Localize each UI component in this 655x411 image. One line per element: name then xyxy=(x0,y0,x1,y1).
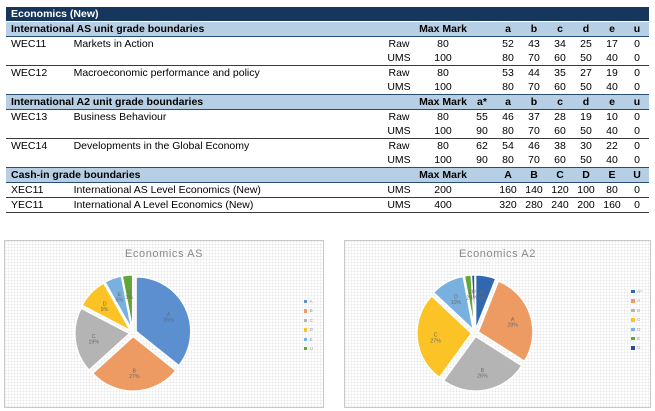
unit-subject: International AS Level Economics (New) xyxy=(74,183,381,198)
section-grade-header-E: E xyxy=(599,168,625,183)
row-value-e: 40 xyxy=(599,153,625,168)
section-grade-header-u: u xyxy=(625,95,649,110)
row-value-b: 70 xyxy=(521,153,547,168)
row-value-D: 100 xyxy=(573,183,599,198)
row-mark-type: UMS xyxy=(381,51,417,66)
row-value-d: 50 xyxy=(573,80,599,95)
chart-a2-pie: A*6%A28%B26%C27%D10%E2%U1% xyxy=(405,263,545,403)
unit-subject: Markets in Action xyxy=(74,37,381,52)
legend-label: E xyxy=(310,335,313,344)
chart-as-legend: ABCDEU xyxy=(304,297,313,353)
row-value-C: 240 xyxy=(547,198,573,213)
row-max-mark: 100 xyxy=(417,153,469,168)
section-max-mark-header: Max Mark xyxy=(417,168,469,183)
row-value-u: 0 xyxy=(625,153,649,168)
unit-subject xyxy=(74,153,381,168)
row-value-B: 140 xyxy=(521,183,547,198)
section-grade-header-B: B xyxy=(521,168,547,183)
row-value-c: 60 xyxy=(547,124,573,139)
legend-label: U xyxy=(310,344,313,353)
row-value-a: 54 xyxy=(495,139,521,154)
row-value-a: 46 xyxy=(495,110,521,125)
row-value-d: 27 xyxy=(573,66,599,81)
section-astar-header: a* xyxy=(469,95,495,110)
row-value-A: 160 xyxy=(495,183,521,198)
row-value-U: 0 xyxy=(625,183,649,198)
row-value-b: 44 xyxy=(521,66,547,81)
row-value-a: 80 xyxy=(495,124,521,139)
row-value-u: 0 xyxy=(625,110,649,125)
table-row: UMS10080706050400 xyxy=(6,51,649,66)
legend-item-E: E xyxy=(631,334,642,343)
row-mark-type: Raw xyxy=(381,110,417,125)
row-value-U: 0 xyxy=(625,198,649,213)
section-header-row: International AS unit grade boundariesMa… xyxy=(6,22,649,37)
legend-swatch-icon xyxy=(304,319,308,323)
row-value-e: 19 xyxy=(599,66,625,81)
row-mark-type: Raw xyxy=(381,66,417,81)
unit-code xyxy=(6,153,74,168)
legend-label: D xyxy=(310,325,313,334)
section-title: International AS unit grade boundaries xyxy=(6,22,381,37)
unit-subject xyxy=(74,124,381,139)
row-mark-type: Raw xyxy=(381,139,417,154)
row-max-mark: 400 xyxy=(417,198,469,213)
row-value-u: 0 xyxy=(625,66,649,81)
table-title-row: Economics (New) xyxy=(6,7,649,22)
unit-code xyxy=(6,124,74,139)
table-row: WEC13Business BehaviourRaw80554637281910… xyxy=(6,110,649,125)
row-value-b: 70 xyxy=(521,124,547,139)
unit-code: XEC11 xyxy=(6,183,74,198)
legend-label: E xyxy=(637,334,640,343)
legend-swatch-icon xyxy=(304,300,308,304)
row-mark-type: UMS xyxy=(381,153,417,168)
row-value-b: 37 xyxy=(521,110,547,125)
unit-code xyxy=(6,80,74,95)
table-row: UMS1009080706050400 xyxy=(6,124,649,139)
legend-item-B: B xyxy=(631,306,642,315)
row-max-mark: 100 xyxy=(417,51,469,66)
section-grade-header-b: b xyxy=(521,95,547,110)
table-row: WEC11Markets in ActionRaw8052433425170 xyxy=(6,37,649,52)
row-value-e: 10 xyxy=(599,110,625,125)
row-value-astar: 90 xyxy=(469,124,495,139)
section-grade-header-C: C xyxy=(547,168,573,183)
table-row: UMS1009080706050400 xyxy=(6,153,649,168)
row-value-c: 60 xyxy=(547,153,573,168)
legend-swatch-icon xyxy=(304,338,308,342)
section-type-spacer xyxy=(381,95,417,110)
row-value-u: 0 xyxy=(625,51,649,66)
section-max-mark-header: Max Mark xyxy=(417,95,469,110)
row-value-c: 60 xyxy=(547,51,573,66)
legend-swatch-icon xyxy=(631,346,635,350)
row-value-d: 19 xyxy=(573,110,599,125)
legend-label: A* xyxy=(637,287,642,296)
row-value-c: 38 xyxy=(547,139,573,154)
table-row: WEC14Developments in the Global EconomyR… xyxy=(6,139,649,154)
unit-subject xyxy=(74,80,381,95)
row-value-b: 70 xyxy=(521,80,547,95)
row-value-d: 50 xyxy=(573,124,599,139)
legend-item-B: B xyxy=(304,306,313,315)
table-row: YEC11International A Level Economics (Ne… xyxy=(6,198,649,213)
section-grade-header-b: b xyxy=(521,22,547,37)
section-max-mark-header: Max Mark xyxy=(417,22,469,37)
section-grade-header-d: d xyxy=(573,22,599,37)
row-value-b: 70 xyxy=(521,51,547,66)
row-value-astar: 55 xyxy=(469,110,495,125)
legend-item-U: U xyxy=(631,343,642,352)
unit-code xyxy=(6,51,74,66)
row-value-a: 80 xyxy=(495,80,521,95)
row-value-B: 280 xyxy=(521,198,547,213)
chart-as-pie: A35%B27%C19%D9%E5%U3% xyxy=(63,263,203,403)
section-grade-header-A: A xyxy=(495,168,521,183)
row-max-mark: 80 xyxy=(417,110,469,125)
unit-code: WEC11 xyxy=(6,37,74,52)
row-value-astar: 62 xyxy=(469,139,495,154)
section-astar-header xyxy=(469,22,495,37)
row-value-astar xyxy=(469,37,495,52)
legend-item-Astar: A* xyxy=(631,287,642,296)
chart-as-title: Economics AS xyxy=(5,248,323,260)
unit-subject: Macroeconomic performance and policy xyxy=(74,66,381,81)
row-value-a: 52 xyxy=(495,37,521,52)
unit-subject: Developments in the Global Economy xyxy=(74,139,381,154)
table-row: XEC11International AS Level Economics (N… xyxy=(6,183,649,198)
row-value-d: 30 xyxy=(573,139,599,154)
section-header-row: International A2 unit grade boundariesMa… xyxy=(6,95,649,110)
row-max-mark: 80 xyxy=(417,37,469,52)
row-max-mark: 100 xyxy=(417,124,469,139)
row-mark-type: UMS xyxy=(381,80,417,95)
table-title: Economics (New) xyxy=(6,7,649,22)
legend-item-D: D xyxy=(304,325,313,334)
row-value-astar: 90 xyxy=(469,153,495,168)
table-row: WEC12Macroeconomic performance and polic… xyxy=(6,66,649,81)
section-grade-header-c: c xyxy=(547,22,573,37)
legend-item-A: A xyxy=(631,296,642,305)
section-grade-header-d: d xyxy=(573,95,599,110)
section-astar-header xyxy=(469,168,495,183)
row-value-e: 40 xyxy=(599,124,625,139)
row-value-c: 60 xyxy=(547,80,573,95)
chart-economics-a2: Economics A2 A*6%A28%B26%C27%D10%E2%U1% … xyxy=(344,240,651,408)
legend-label: B xyxy=(637,306,640,315)
row-value-E: 160 xyxy=(599,198,625,213)
legend-swatch-icon xyxy=(631,290,635,294)
legend-label: A xyxy=(637,296,640,305)
section-grade-header-u: u xyxy=(625,22,649,37)
row-value-d: 50 xyxy=(573,153,599,168)
legend-item-U: U xyxy=(304,344,313,353)
row-value-astar xyxy=(469,198,495,213)
legend-item-C: C xyxy=(631,315,642,324)
row-value-D: 200 xyxy=(573,198,599,213)
section-title: International A2 unit grade boundaries xyxy=(6,95,381,110)
chart-a2-title: Economics A2 xyxy=(345,248,650,260)
legend-swatch-icon xyxy=(631,299,635,303)
row-value-e: 40 xyxy=(599,51,625,66)
chart-a2-legend: A*ABCDEU xyxy=(631,287,642,353)
row-value-c: 34 xyxy=(547,37,573,52)
row-value-u: 0 xyxy=(625,80,649,95)
legend-swatch-icon xyxy=(631,328,635,332)
section-grade-header-a: a xyxy=(495,22,521,37)
row-value-a: 80 xyxy=(495,153,521,168)
legend-label: D xyxy=(637,325,640,334)
grade-boundaries-table: Economics (New)International AS unit gra… xyxy=(6,7,649,213)
unit-subject: Business Behaviour xyxy=(74,110,381,125)
row-value-a: 53 xyxy=(495,66,521,81)
row-value-e: 40 xyxy=(599,80,625,95)
row-value-astar xyxy=(469,80,495,95)
row-max-mark: 100 xyxy=(417,80,469,95)
legend-label: B xyxy=(310,306,313,315)
legend-swatch-icon xyxy=(304,347,308,351)
row-value-b: 46 xyxy=(521,139,547,154)
row-value-e: 22 xyxy=(599,139,625,154)
row-value-e: 17 xyxy=(599,37,625,52)
section-grade-header-e: e xyxy=(599,95,625,110)
row-max-mark: 80 xyxy=(417,66,469,81)
row-value-u: 0 xyxy=(625,139,649,154)
row-value-d: 25 xyxy=(573,37,599,52)
legend-swatch-icon xyxy=(631,318,635,322)
section-grade-header-c: c xyxy=(547,95,573,110)
legend-label: C xyxy=(637,315,640,324)
legend-swatch-icon xyxy=(304,328,308,332)
row-max-mark: 80 xyxy=(417,139,469,154)
section-type-spacer xyxy=(381,22,417,37)
row-mark-type: UMS xyxy=(381,124,417,139)
legend-label: C xyxy=(310,316,313,325)
row-mark-type: UMS xyxy=(381,198,417,213)
row-value-u: 0 xyxy=(625,37,649,52)
unit-code: WEC14 xyxy=(6,139,74,154)
section-grade-header-D: D xyxy=(573,168,599,183)
unit-subject: International A Level Economics (New) xyxy=(74,198,381,213)
legend-swatch-icon xyxy=(631,337,635,341)
section-type-spacer xyxy=(381,168,417,183)
section-grade-header-e: e xyxy=(599,22,625,37)
row-value-E: 80 xyxy=(599,183,625,198)
legend-swatch-icon xyxy=(631,309,635,313)
unit-subject xyxy=(74,51,381,66)
row-value-astar xyxy=(469,66,495,81)
row-value-d: 50 xyxy=(573,51,599,66)
legend-label: U xyxy=(637,343,640,352)
row-mark-type: Raw xyxy=(381,37,417,52)
table-row: UMS10080706050400 xyxy=(6,80,649,95)
legend-label: A xyxy=(310,297,313,306)
row-value-c: 28 xyxy=(547,110,573,125)
section-header-row: Cash-in grade boundariesMax MarkABCDEU xyxy=(6,168,649,183)
legend-swatch-icon xyxy=(304,309,308,313)
row-value-b: 43 xyxy=(521,37,547,52)
legend-item-C: C xyxy=(304,316,313,325)
chart-economics-as: Economics AS A35%B27%C19%D9%E5%U3% ABCDE… xyxy=(4,240,324,408)
row-mark-type: UMS xyxy=(381,183,417,198)
row-value-c: 35 xyxy=(547,66,573,81)
section-grade-header-U: U xyxy=(625,168,649,183)
legend-item-A: A xyxy=(304,297,313,306)
unit-code: WEC13 xyxy=(6,110,74,125)
row-value-C: 120 xyxy=(547,183,573,198)
legend-item-D: D xyxy=(631,325,642,334)
section-title: Cash-in grade boundaries xyxy=(6,168,381,183)
row-max-mark: 200 xyxy=(417,183,469,198)
row-value-astar xyxy=(469,183,495,198)
unit-code: WEC12 xyxy=(6,66,74,81)
section-grade-header-a: a xyxy=(495,95,521,110)
row-value-u: 0 xyxy=(625,124,649,139)
legend-item-E: E xyxy=(304,335,313,344)
row-value-a: 80 xyxy=(495,51,521,66)
unit-code: YEC11 xyxy=(6,198,74,213)
row-value-A: 320 xyxy=(495,198,521,213)
row-value-astar xyxy=(469,51,495,66)
